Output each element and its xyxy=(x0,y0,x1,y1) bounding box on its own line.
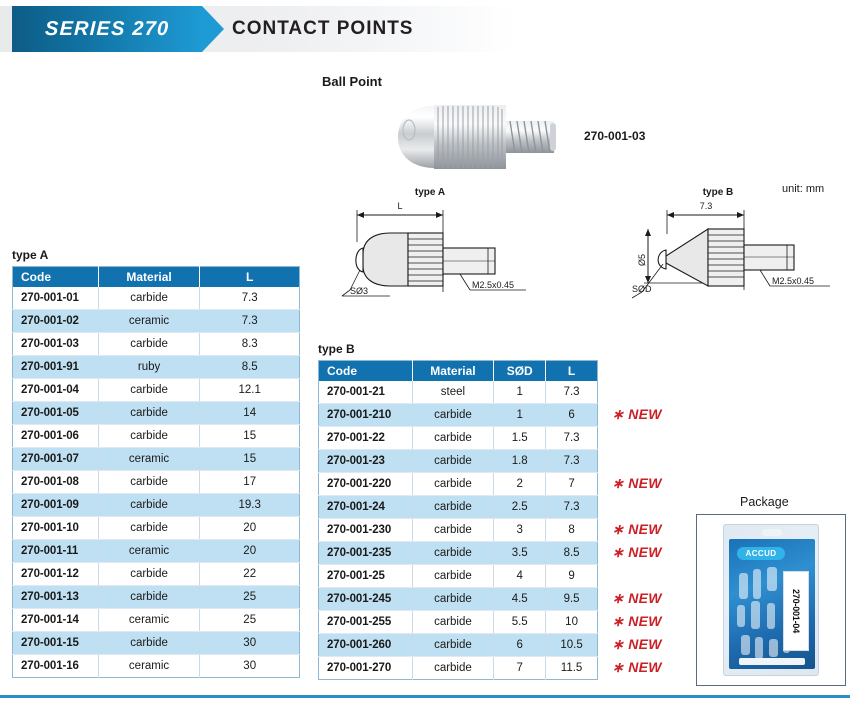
cell-material: carbide xyxy=(98,333,200,356)
new-badge: ∗ NEW xyxy=(612,613,662,630)
new-badge: ∗ NEW xyxy=(612,406,662,423)
cell-sphere-diameter: 1.8 xyxy=(494,450,546,473)
table-row: 270-001-220carbide27 xyxy=(319,473,598,496)
column-header-code: Code xyxy=(319,361,413,381)
table-row: 270-001-08carbide17 xyxy=(13,471,300,494)
cell-code: 270-001-24 xyxy=(319,496,413,519)
cell-code: 270-001-15 xyxy=(13,632,99,655)
table-a-body: 270-001-01carbide7.3270-001-02ceramic7.3… xyxy=(13,287,300,678)
cell-code: 270-001-245 xyxy=(319,588,413,611)
cell-sphere-diameter: 3.5 xyxy=(494,542,546,565)
cell-material: carbide xyxy=(412,496,494,519)
type-b-drawing-title: type B xyxy=(703,187,734,198)
new-marker-slot xyxy=(602,449,686,472)
cell-length: 25 xyxy=(200,586,300,609)
cell-code: 270-001-12 xyxy=(13,563,99,586)
cell-material: carbide xyxy=(98,425,200,448)
cell-length: 30 xyxy=(200,655,300,678)
column-header-material: Material xyxy=(98,267,200,287)
cell-sphere-diameter: 4.5 xyxy=(494,588,546,611)
cell-length: 8.3 xyxy=(200,333,300,356)
type-b-drawing: type B 7.3 Ø5 SØD xyxy=(630,182,835,307)
cell-length: 7.3 xyxy=(200,310,300,333)
cell-length: 7.3 xyxy=(546,427,598,450)
new-marker-slot: ∗ NEW xyxy=(602,587,686,610)
cell-code: 270-001-08 xyxy=(13,471,99,494)
cell-length: 22 xyxy=(200,563,300,586)
cell-material: carbide xyxy=(98,471,200,494)
cell-code: 270-001-07 xyxy=(13,448,99,471)
cell-code: 270-001-14 xyxy=(13,609,99,632)
table-b-body: 270-001-21steel17.3270-001-210carbide162… xyxy=(319,381,598,680)
table-row: 270-001-210carbide16 xyxy=(319,404,598,427)
cell-code: 270-001-04 xyxy=(13,379,99,402)
cell-material: carbide xyxy=(98,517,200,540)
cell-length: 15 xyxy=(200,425,300,448)
package-label-code: 270-001-04 xyxy=(791,589,801,633)
cell-code: 270-001-21 xyxy=(319,381,413,404)
table-row: 270-001-11ceramic20 xyxy=(13,540,300,563)
cell-material: carbide xyxy=(412,473,494,496)
table-row: 270-001-24carbide2.57.3 xyxy=(319,496,598,519)
cell-length: 14 xyxy=(200,402,300,425)
ballpoint-code: 270-001-03 xyxy=(584,129,645,143)
table-row: 270-001-15carbide30 xyxy=(13,632,300,655)
cell-length: 10 xyxy=(546,611,598,634)
new-marker-slot: ∗ NEW xyxy=(602,541,686,564)
cell-code: 270-001-06 xyxy=(13,425,99,448)
table-a-header-row: Code Material L xyxy=(13,267,300,287)
cell-length: 11.5 xyxy=(546,657,598,680)
cell-material: ceramic xyxy=(98,609,200,632)
type-b-length-value: 7.3 xyxy=(700,201,713,211)
type-a-thread-label: M2.5x0.45 xyxy=(472,280,514,290)
new-marker-slot: ∗ NEW xyxy=(602,403,686,426)
cell-code: 270-001-255 xyxy=(319,611,413,634)
table-row: 270-001-10carbide20 xyxy=(13,517,300,540)
package-title: Package xyxy=(740,495,789,509)
package-label: 270-001-04 xyxy=(783,571,809,651)
cell-code: 270-001-10 xyxy=(13,517,99,540)
cell-sphere-diameter: 2 xyxy=(494,473,546,496)
package-footer-strip xyxy=(739,658,805,665)
cell-code: 270-001-01 xyxy=(13,287,99,310)
cell-sphere-diameter: 3 xyxy=(494,519,546,542)
new-marker-slot: ∗ NEW xyxy=(602,656,686,679)
cell-material: carbide xyxy=(412,404,494,427)
new-badge: ∗ NEW xyxy=(612,590,662,607)
type-a-drawing-title: type A xyxy=(415,187,445,198)
cell-length: 7.3 xyxy=(200,287,300,310)
table-row: 270-001-16ceramic30 xyxy=(13,655,300,678)
cell-sphere-diameter: 4 xyxy=(494,565,546,588)
table-row: 270-001-12carbide22 xyxy=(13,563,300,586)
package-card-front: ACCUD 270-001-04 xyxy=(729,539,815,669)
table-row: 270-001-255carbide5.510 xyxy=(319,611,598,634)
cell-material: carbide xyxy=(98,563,200,586)
new-badge: ∗ NEW xyxy=(612,636,662,653)
type-b-sphere-label: SØD xyxy=(632,284,652,294)
new-marker-slot: ∗ NEW xyxy=(602,518,686,541)
cell-code: 270-001-16 xyxy=(13,655,99,678)
cell-material: carbide xyxy=(98,287,200,310)
cell-sphere-diameter: 1 xyxy=(494,381,546,404)
cell-code: 270-001-210 xyxy=(319,404,413,427)
column-header-sphere-diameter: SØD xyxy=(494,361,546,381)
cell-material: carbide xyxy=(412,588,494,611)
package-blister: ACCUD 270-001-04 xyxy=(723,524,819,676)
package-frame: ACCUD 270-001-04 xyxy=(696,514,846,686)
type-b-diameter-label: Ø5 xyxy=(637,254,647,266)
bottom-rule xyxy=(0,695,850,698)
table-row: 270-001-01carbide7.3 xyxy=(13,287,300,310)
cell-sphere-diameter: 6 xyxy=(494,634,546,657)
table-row: 270-001-14ceramic25 xyxy=(13,609,300,632)
table-row: 270-001-91ruby8.5 xyxy=(13,356,300,379)
table-row: 270-001-03carbide8.3 xyxy=(13,333,300,356)
cell-length: 19.3 xyxy=(200,494,300,517)
cell-code: 270-001-11 xyxy=(13,540,99,563)
table-row: 270-001-270carbide711.5 xyxy=(319,657,598,680)
table-b-caption: type B xyxy=(318,342,355,356)
cell-code: 270-001-270 xyxy=(319,657,413,680)
new-marker-slot: ∗ NEW xyxy=(602,472,686,495)
cell-length: 20 xyxy=(200,517,300,540)
cell-material: carbide xyxy=(98,494,200,517)
cell-sphere-diameter: 2.5 xyxy=(494,496,546,519)
series-label: SERIES 270 xyxy=(44,18,169,41)
table-row: 270-001-25carbide49 xyxy=(319,565,598,588)
cell-material: ceramic xyxy=(98,655,200,678)
cell-length: 25 xyxy=(200,609,300,632)
brand-logo: ACCUD xyxy=(737,547,785,560)
cell-material: carbide xyxy=(412,542,494,565)
new-badge: ∗ NEW xyxy=(612,659,662,676)
table-row: 270-001-260carbide610.5 xyxy=(319,634,598,657)
cell-code: 270-001-13 xyxy=(13,586,99,609)
cell-material: carbide xyxy=(412,611,494,634)
cell-length: 7 xyxy=(546,473,598,496)
cell-length: 7.3 xyxy=(546,496,598,519)
new-marker-slot xyxy=(602,495,686,518)
new-markers-column: ∗ NEW∗ NEW∗ NEW∗ NEW∗ NEW∗ NEW∗ NEW∗ NEW xyxy=(602,360,686,679)
new-column-header-spacer xyxy=(602,360,686,380)
cell-length: 6 xyxy=(546,404,598,427)
cell-code: 270-001-91 xyxy=(13,356,99,379)
cell-material: ceramic xyxy=(98,540,200,563)
table-row: 270-001-23carbide1.87.3 xyxy=(319,450,598,473)
cell-material: ruby xyxy=(98,356,200,379)
cell-material: ceramic xyxy=(98,310,200,333)
cell-sphere-diameter: 1 xyxy=(494,404,546,427)
series-badge: SERIES 270 xyxy=(12,6,202,52)
cell-code: 270-001-230 xyxy=(319,519,413,542)
cell-length: 8.5 xyxy=(200,356,300,379)
cell-length: 9 xyxy=(546,565,598,588)
new-marker-slot xyxy=(602,426,686,449)
new-marker-slot: ∗ NEW xyxy=(602,610,686,633)
column-header-length: L xyxy=(546,361,598,381)
cell-length: 7.3 xyxy=(546,450,598,473)
cell-material: carbide xyxy=(98,586,200,609)
cell-length: 9.5 xyxy=(546,588,598,611)
cell-code: 270-001-03 xyxy=(13,333,99,356)
cell-material: carbide xyxy=(98,402,200,425)
cell-length: 15 xyxy=(200,448,300,471)
table-row: 270-001-235carbide3.58.5 xyxy=(319,542,598,565)
table-row: 270-001-13carbide25 xyxy=(13,586,300,609)
table-row: 270-001-06carbide15 xyxy=(13,425,300,448)
cell-code: 270-001-220 xyxy=(319,473,413,496)
column-header-material: Material xyxy=(412,361,494,381)
new-marker-slot: ∗ NEW xyxy=(602,633,686,656)
cell-material: carbide xyxy=(412,450,494,473)
cell-material: carbide xyxy=(98,379,200,402)
cell-material: carbide xyxy=(412,657,494,680)
unit-label: unit: mm xyxy=(782,183,824,195)
cell-sphere-diameter: 7 xyxy=(494,657,546,680)
cell-length: 30 xyxy=(200,632,300,655)
table-row: 270-001-22carbide1.57.3 xyxy=(319,427,598,450)
cell-length: 8 xyxy=(546,519,598,542)
table-a-caption: type A xyxy=(12,248,48,262)
page-header: SERIES 270 CONTACT POINTS xyxy=(0,6,850,52)
cell-length: 12.1 xyxy=(200,379,300,402)
new-marker-slot xyxy=(602,380,686,403)
table-row: 270-001-245carbide4.59.5 xyxy=(319,588,598,611)
ballpoint-title: Ball Point xyxy=(322,74,382,89)
type-b-table: Code Material SØD L 270-001-21steel17.32… xyxy=(318,360,598,680)
table-row: 270-001-04carbide12.1 xyxy=(13,379,300,402)
cell-code: 270-001-25 xyxy=(319,565,413,588)
cell-sphere-diameter: 1.5 xyxy=(494,427,546,450)
table-b-header-row: Code Material SØD L xyxy=(319,361,598,381)
cell-material: carbide xyxy=(412,519,494,542)
catalog-page: SERIES 270 CONTACT POINTS Ball Point 270… xyxy=(0,0,850,702)
cell-material: carbide xyxy=(412,634,494,657)
package-hang-hole xyxy=(762,529,782,536)
cell-material: ceramic xyxy=(98,448,200,471)
cell-code: 270-001-23 xyxy=(319,450,413,473)
cell-material: carbide xyxy=(412,565,494,588)
page-title: CONTACT POINTS xyxy=(232,6,413,52)
new-badge: ∗ NEW xyxy=(612,544,662,561)
cell-length: 7.3 xyxy=(546,381,598,404)
table-row: 270-001-02ceramic7.3 xyxy=(13,310,300,333)
table-row: 270-001-07ceramic15 xyxy=(13,448,300,471)
cell-code: 270-001-09 xyxy=(13,494,99,517)
type-a-length-label: L xyxy=(397,201,402,211)
cell-length: 10.5 xyxy=(546,634,598,657)
table-row: 270-001-05carbide14 xyxy=(13,402,300,425)
cell-material: steel xyxy=(412,381,494,404)
series-arrow-icon xyxy=(202,6,224,52)
type-a-sphere-label: SØ3 xyxy=(350,286,368,296)
type-a-table: Code Material L 270-001-01carbide7.3270-… xyxy=(12,266,300,678)
cell-code: 270-001-235 xyxy=(319,542,413,565)
cell-sphere-diameter: 5.5 xyxy=(494,611,546,634)
cell-code: 270-001-260 xyxy=(319,634,413,657)
new-badge: ∗ NEW xyxy=(612,475,662,492)
column-header-length: L xyxy=(200,267,300,287)
new-marker-slot xyxy=(602,564,686,587)
cell-material: carbide xyxy=(412,427,494,450)
new-badge: ∗ NEW xyxy=(612,521,662,538)
cell-length: 17 xyxy=(200,471,300,494)
table-row: 270-001-21steel17.3 xyxy=(319,381,598,404)
table-row: 270-001-09carbide19.3 xyxy=(13,494,300,517)
table-row: 270-001-230carbide38 xyxy=(319,519,598,542)
cell-code: 270-001-02 xyxy=(13,310,99,333)
cell-length: 8.5 xyxy=(546,542,598,565)
cell-code: 270-001-05 xyxy=(13,402,99,425)
type-a-drawing: type A L SØ3 M2.5x0.45 xyxy=(330,182,530,307)
cell-material: carbide xyxy=(98,632,200,655)
cell-length: 20 xyxy=(200,540,300,563)
column-header-code: Code xyxy=(13,267,99,287)
cell-code: 270-001-22 xyxy=(319,427,413,450)
type-b-thread-label: M2.5x0.45 xyxy=(772,276,814,286)
ballpoint-photo xyxy=(382,96,582,178)
